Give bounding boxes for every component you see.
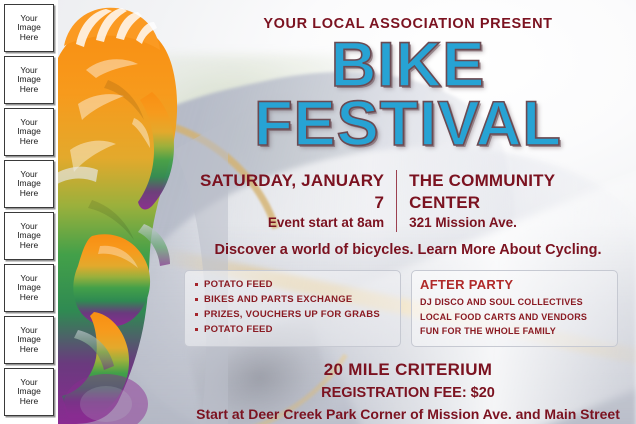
placeholder-line-3: Here (20, 345, 38, 355)
image-placeholder-8[interactable]: Your Image Here (4, 368, 54, 416)
image-placeholder-4[interactable]: Your Image Here (4, 160, 54, 208)
placeholder-line-3: Here (20, 293, 38, 303)
activities-box: POTATO FEED BIKES AND PARTS EXCHANGE PRI… (184, 270, 401, 347)
image-placeholder-strip: Your Image Here Your Image Here Your Ima… (0, 0, 58, 424)
event-start-time: Event start at 8am (192, 214, 384, 232)
after-party-line: DJ DISCO AND SOUL COLLECTIVES (420, 295, 609, 310)
title-line-bike: BIKE (180, 36, 636, 95)
after-party-box: AFTER PARTY DJ DISCO AND SOUL COLLECTIVE… (411, 270, 618, 347)
venue-column: THE COMMUNITY CENTER 321 Mission Ave. (396, 170, 636, 232)
placeholder-line-3: Here (20, 241, 38, 251)
placeholder-line-3: Here (20, 85, 38, 95)
event-venue: THE COMMUNITY CENTER (409, 170, 624, 213)
placeholder-line-3: Here (20, 137, 38, 147)
activities-list: POTATO FEED BIKES AND PARTS EXCHANGE PRI… (193, 277, 392, 337)
placeholder-line-3: Here (20, 33, 38, 43)
event-poster: Your Image Here Your Image Here Your Ima… (0, 0, 636, 424)
list-item: POTATO FEED (193, 277, 392, 292)
race-headline: 20 MILE CRITERIUM (180, 360, 636, 380)
title-line-festival: FESTIVAL (180, 95, 636, 154)
info-box-row: POTATO FEED BIKES AND PARTS EXCHANGE PRI… (180, 270, 636, 347)
date-venue-bar: SATURDAY, JANUARY 7 Event start at 8am T… (180, 170, 636, 232)
after-party-title: AFTER PARTY (420, 277, 609, 292)
race-start-location: Start at Deer Creek Park Corner of Missi… (180, 406, 636, 422)
image-placeholder-2[interactable]: Your Image Here (4, 56, 54, 104)
after-party-line: FUN FOR THE WHOLE FAMILY (420, 324, 609, 339)
image-placeholder-1[interactable]: Your Image Here (4, 4, 54, 52)
poster-title: BIKE FESTIVAL (180, 36, 636, 154)
list-item: BIKES AND PARTS EXCHANGE (193, 292, 392, 307)
image-placeholder-5[interactable]: Your Image Here (4, 212, 54, 260)
event-address: 321 Mission Ave. (409, 214, 624, 232)
date-column: SATURDAY, JANUARY 7 Event start at 8am (180, 170, 396, 232)
image-placeholder-3[interactable]: Your Image Here (4, 108, 54, 156)
list-item: PRIZES, VOUCHERS UP FOR GRABS (193, 307, 392, 322)
list-item: POTATO FEED (193, 322, 392, 337)
race-fee: REGISTRATION FEE: $20 (180, 385, 636, 401)
race-footer: 20 MILE CRITERIUM REGISTRATION FEE: $20 … (180, 360, 636, 424)
event-date: SATURDAY, JANUARY 7 (192, 170, 384, 213)
after-party-line: LOCAL FOOD CARTS AND VENDORS (420, 310, 609, 325)
poster-tagline: Discover a world of bicycles. Learn More… (180, 242, 636, 258)
image-placeholder-7[interactable]: Your Image Here (4, 316, 54, 364)
image-placeholder-6[interactable]: Your Image Here (4, 264, 54, 312)
placeholder-line-3: Here (20, 189, 38, 199)
poster-content: YOUR LOCAL ASSOCIATION PRESENT BIKE FEST… (180, 0, 636, 424)
placeholder-line-3: Here (20, 397, 38, 407)
